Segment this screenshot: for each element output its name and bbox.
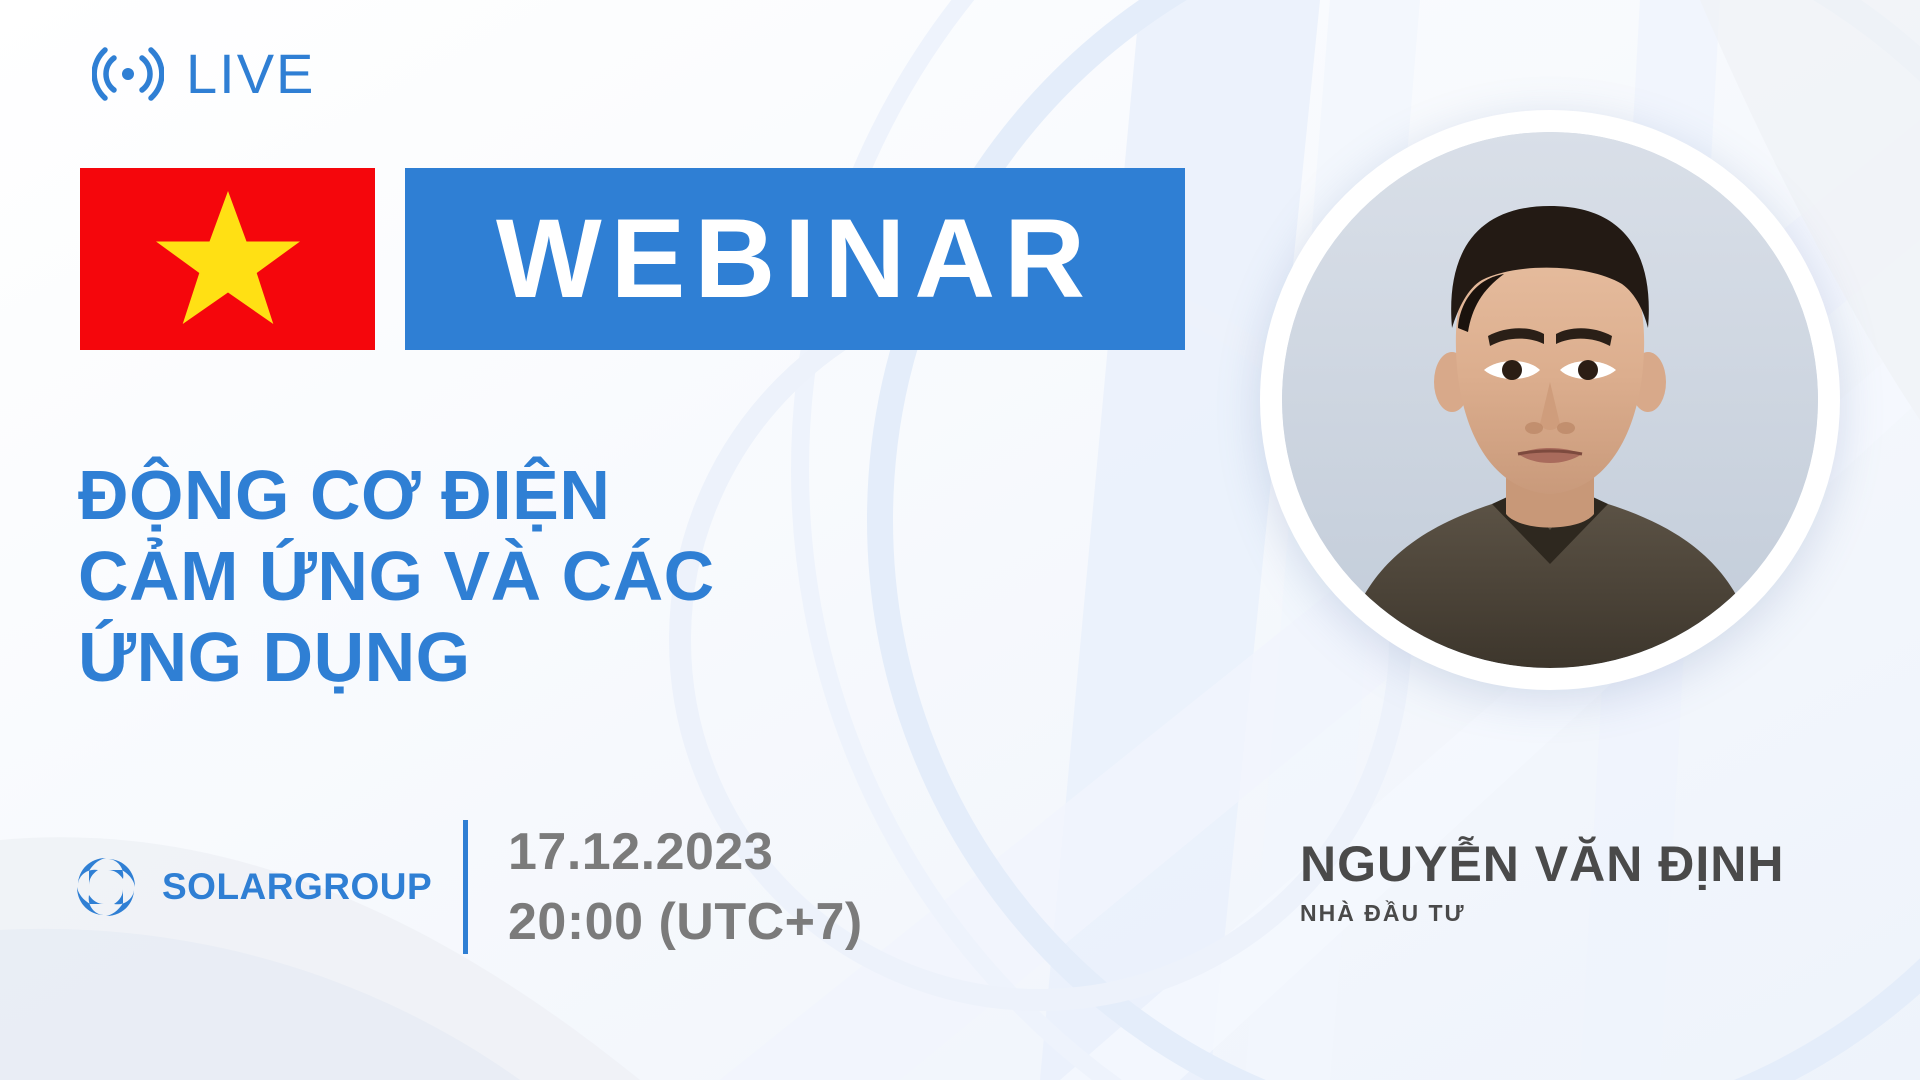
footer-row: SOLARGROUP 17.12.2023 20:00 (UTC+7) — [70, 820, 863, 954]
headline-line-3: ỨNG DỤNG — [78, 617, 715, 698]
speaker-photo-illustration — [1282, 132, 1818, 668]
headline-line-1: ĐỘNG CƠ ĐIỆN — [78, 455, 715, 536]
live-badge: LIVE — [92, 44, 315, 104]
page-title: ĐỘNG CƠ ĐIỆN CẢM ỨNG VÀ CÁC ỨNG DỤNG — [78, 455, 715, 699]
webinar-label-box: WEBINAR — [405, 168, 1185, 350]
speaker-role: NHÀ ĐẦU TƯ — [1300, 900, 1860, 927]
webinar-label: WEBINAR — [496, 203, 1094, 315]
solargroup-swirl-logo-icon — [70, 851, 142, 923]
avatar — [1282, 132, 1818, 668]
vietnam-flag — [80, 168, 375, 350]
event-time: 20:00 (UTC+7) — [508, 896, 863, 948]
speaker-name: NGUYỄN VĂN ĐỊNH — [1300, 838, 1860, 891]
broadcast-signal-icon — [92, 44, 164, 104]
schedule-block: 17.12.2023 20:00 (UTC+7) — [508, 826, 863, 948]
webinar-poster: LIVE WEBINAR ĐỘNG CƠ ĐIỆN CẢM ỨNG VÀ CÁC… — [0, 0, 1920, 1080]
speaker-portrait-wrapper — [1260, 110, 1840, 690]
brand-block: SOLARGROUP — [70, 851, 435, 923]
footer-divider — [463, 820, 468, 954]
webinar-banner-row: WEBINAR — [80, 168, 1185, 350]
brand-name: SOLARGROUP — [162, 866, 432, 908]
event-date: 17.12.2023 — [508, 826, 863, 878]
broadcast-center-dot — [122, 68, 134, 80]
live-label: LIVE — [186, 46, 315, 102]
headline-line-2: CẢM ỨNG VÀ CÁC — [78, 536, 715, 617]
flag-star-icon — [153, 187, 303, 331]
speaker-caption: NGUYỄN VĂN ĐỊNH NHÀ ĐẦU TƯ — [1300, 838, 1860, 927]
